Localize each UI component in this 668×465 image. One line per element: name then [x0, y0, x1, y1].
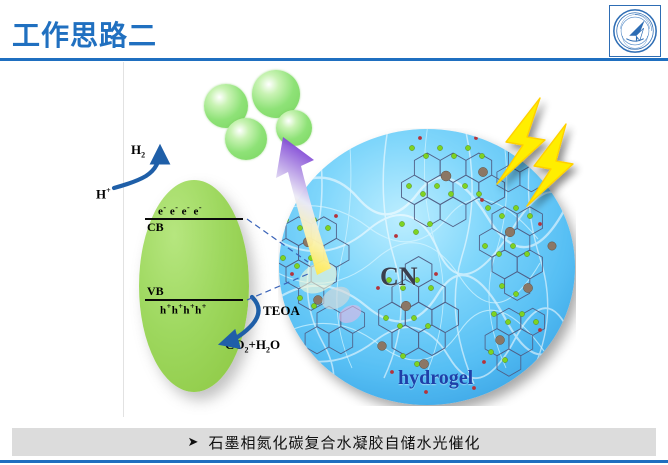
valence-band-line — [145, 299, 243, 301]
caption: ➤ 石墨相氮化碳复合水凝胶自储水光催化 — [12, 428, 656, 456]
h2-label: H2 — [131, 142, 145, 160]
bottom-divider — [0, 460, 668, 463]
electrons-label: e- e- e- e- — [158, 203, 202, 218]
slide-header: 工作思路二 _ _ _ _ — [0, 0, 668, 60]
title-divider — [0, 58, 668, 61]
hydrogel-sphere — [278, 128, 576, 406]
hydrogen-bubble — [225, 118, 267, 160]
page-title: 工作思路二 — [12, 14, 157, 54]
valence-band-label: VB — [147, 284, 164, 299]
hydrogel-label: hydrogel — [398, 367, 473, 390]
holes-label: h+h+h+h+ — [160, 302, 207, 317]
oxidation-products-label: CO2+H2O — [225, 337, 280, 355]
svg-text:_ _ _ _: _ _ _ _ — [622, 46, 631, 50]
teoa-label: TEOA — [263, 303, 300, 319]
caption-label: 石墨相氮化碳复合水凝胶自储水光催化 — [208, 432, 480, 453]
conduction-band-label: CB — [147, 220, 164, 235]
proton-label: H+ — [96, 186, 111, 202]
caption-bar: ➤ 石墨相氮化碳复合水凝胶自储水光催化 — [12, 428, 656, 456]
mechanism-figure: CN hydrogel e- e- e- e- CB VB h+h+h+h+ H… — [0, 62, 668, 417]
university-seal-logo: _ _ _ _ — [609, 5, 661, 57]
bullet-marker-icon: ➤ — [188, 434, 200, 450]
cn-network-label: CN — [380, 262, 418, 292]
slide-canvas: 工作思路二 _ _ _ _ — [0, 0, 668, 465]
